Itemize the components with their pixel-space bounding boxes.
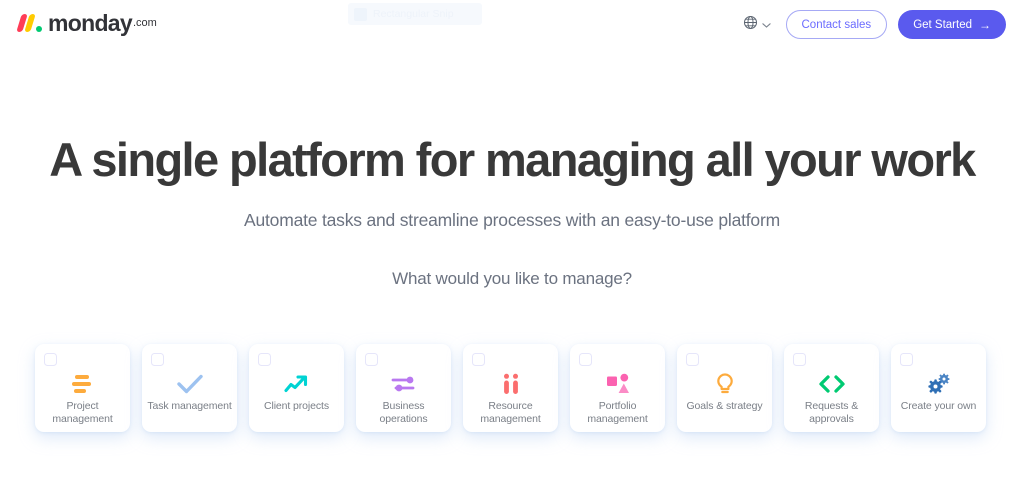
shapes-icon xyxy=(570,370,665,398)
logo-wordmark: monday xyxy=(48,13,132,33)
card-business-operations[interactable]: Business operations xyxy=(356,344,451,432)
gears-icon xyxy=(891,370,986,398)
card-checkbox[interactable] xyxy=(258,353,271,366)
card-portfolio-management[interactable]: Portfolio management xyxy=(570,344,665,432)
card-label: Client projects xyxy=(249,400,344,413)
page-title: A single platform for managing all your … xyxy=(0,132,1024,187)
card-label: Project management xyxy=(35,400,130,425)
two-people-icon xyxy=(463,370,558,398)
header-nav-right: Contact sales Get Started → xyxy=(737,10,1007,39)
card-label: Portfolio management xyxy=(570,400,665,425)
card-label: Resource management xyxy=(463,400,558,425)
rectangular-snip-label: Rectangular Snip xyxy=(373,8,454,20)
card-client-projects[interactable]: Client projects xyxy=(249,344,344,432)
rectangular-snip-icon xyxy=(354,8,367,21)
hero-subtitle: Automate tasks and streamline processes … xyxy=(0,210,1024,231)
card-checkbox[interactable] xyxy=(686,353,699,366)
get-started-button[interactable]: Get Started → xyxy=(898,10,1006,39)
trending-up-arrow-icon xyxy=(249,370,344,398)
logo-tld: .com xyxy=(133,13,157,33)
get-started-label: Get Started xyxy=(913,19,972,31)
card-checkbox[interactable] xyxy=(365,353,378,366)
bars-chart-icon xyxy=(35,370,130,398)
card-checkbox[interactable] xyxy=(44,353,57,366)
contact-sales-button[interactable]: Contact sales xyxy=(786,10,888,39)
card-checkbox[interactable] xyxy=(793,353,806,366)
site-header: monday .com Contact sales Get S xyxy=(0,0,1024,54)
card-label: Goals & strategy xyxy=(677,400,772,413)
card-checkbox[interactable] xyxy=(151,353,164,366)
card-create-your-own[interactable]: Create your own xyxy=(891,344,986,432)
card-label: Business operations xyxy=(356,400,451,425)
card-requests-approvals[interactable]: Requests & approvals xyxy=(784,344,879,432)
card-label: Requests & approvals xyxy=(784,400,879,425)
sliders-icon xyxy=(356,370,451,398)
hero-question: What would you like to manage? xyxy=(0,269,1024,289)
monday-logo-mark-icon xyxy=(18,13,44,33)
monday-logo[interactable]: monday .com xyxy=(18,13,157,33)
card-label: Create your own xyxy=(891,400,986,413)
globe-icon xyxy=(743,15,758,35)
card-task-management[interactable]: Task management xyxy=(142,344,237,432)
rectangular-snip-overlay: Rectangular Snip xyxy=(348,3,482,25)
card-project-management[interactable]: Project management xyxy=(35,344,130,432)
lightbulb-icon xyxy=(677,370,772,398)
card-goals-strategy[interactable]: Goals & strategy xyxy=(677,344,772,432)
hero-section: A single platform for managing all your … xyxy=(0,132,1024,289)
code-brackets-icon xyxy=(784,370,879,398)
card-checkbox[interactable] xyxy=(472,353,485,366)
category-card-grid: Project management Task management Clien… xyxy=(35,344,989,432)
chevron-down-icon xyxy=(762,16,771,34)
card-resource-management[interactable]: Resource management xyxy=(463,344,558,432)
arrow-right-icon: → xyxy=(979,19,991,31)
card-label: Task management xyxy=(142,400,237,413)
language-selector[interactable] xyxy=(737,11,777,39)
checkmark-icon xyxy=(142,370,237,398)
card-checkbox[interactable] xyxy=(900,353,913,366)
card-checkbox[interactable] xyxy=(579,353,592,366)
